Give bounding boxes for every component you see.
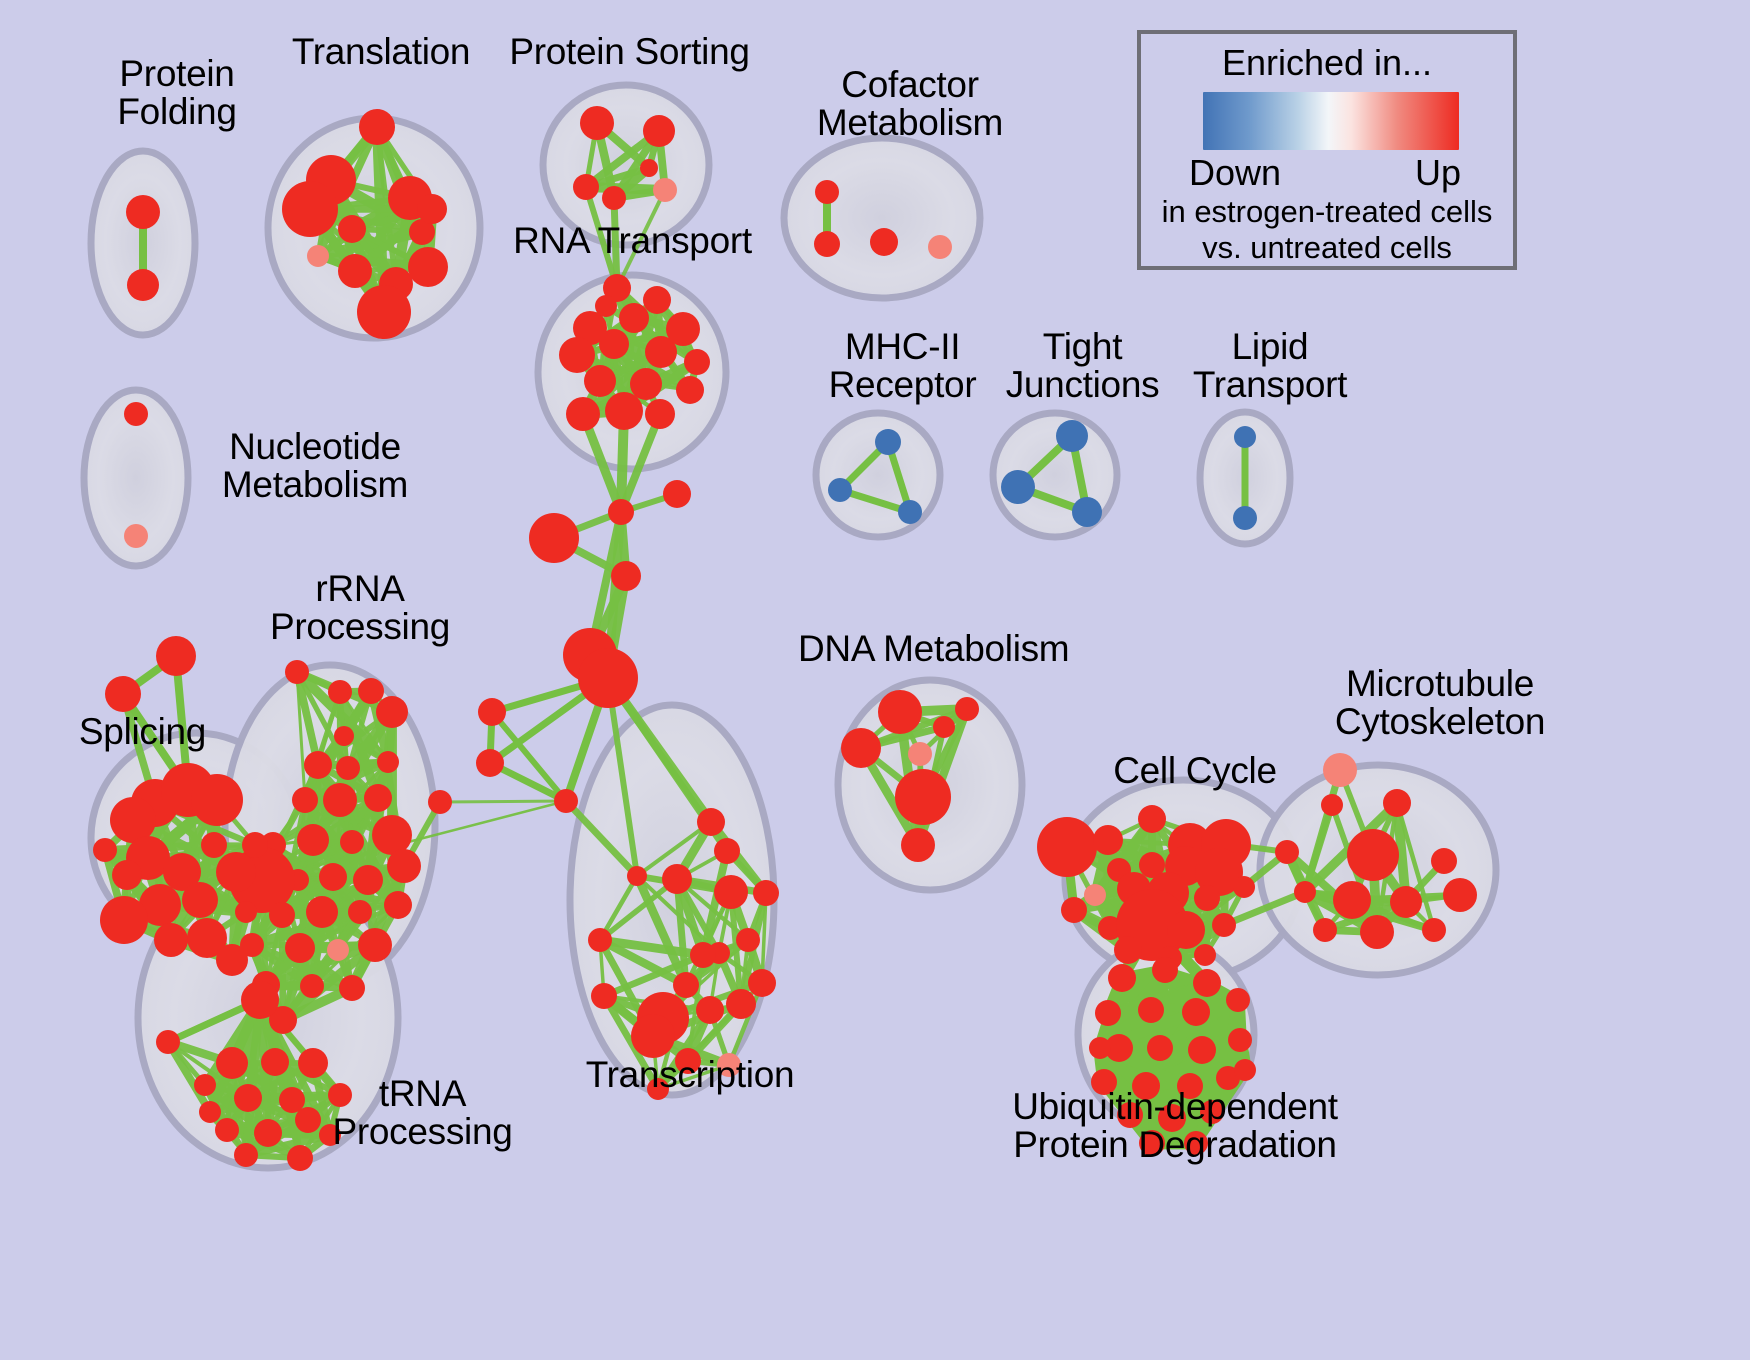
gene-set-node [1138,805,1166,833]
gene-set-node [1226,988,1250,1012]
cluster-label-dna-metabolism: DNA Metabolism [798,630,1068,668]
gene-set-node [591,983,617,1009]
gene-set-node [261,1048,289,1076]
enrichment-map-figure: Protein FoldingTranslationProtein Sortin… [0,0,1750,1360]
gene-set-node [319,863,347,891]
gene-set-node [1182,998,1210,1026]
gene-set-node [298,1048,328,1078]
gene-set-node [1313,918,1337,942]
gene-set-node [235,901,257,923]
gene-set-node [663,480,691,508]
cluster-label-cell-cycle: Cell Cycle [1095,752,1295,790]
legend-title: Enriched in... [1141,42,1513,84]
gene-set-node [1001,470,1035,504]
cluster-label-rrna-processing: rRNA Processing [245,570,475,647]
gene-set-node [1228,1028,1252,1052]
gene-set-node [285,933,315,963]
gene-set-node [323,783,357,817]
gene-set-node [124,524,148,548]
gene-set-node [1037,817,1097,877]
gene-set-node [1234,426,1256,448]
gene-set-node [815,180,839,204]
gene-set-node [1321,794,1343,816]
gene-set-node [726,989,756,1019]
cluster-label-transcription: Transcription [565,1056,815,1094]
gene-set-node [1275,840,1299,864]
gene-set-node [753,880,779,906]
gene-set-node [297,824,329,856]
gene-set-node [645,336,677,368]
gene-set-node [1114,936,1142,964]
gene-set-node [1333,881,1371,919]
gene-set-node [696,996,724,1024]
gene-set-node [126,195,160,229]
gene-set-node [566,397,600,431]
gene-set-node [254,1119,282,1147]
legend-up-label: Up [1415,152,1461,194]
gene-set-node [353,865,383,895]
gene-set-node [1147,1035,1173,1061]
gene-set-node [285,660,309,684]
gene-set-node [1194,885,1220,911]
gene-set-node [269,902,295,928]
gene-set-node [619,303,649,333]
gene-set-node [828,478,852,502]
gene-set-node [1347,829,1399,881]
gene-set-node [870,228,898,256]
cluster-label-mhc-ii-receptor: MHC-II Receptor [800,328,1005,405]
gene-set-node [1089,1037,1111,1059]
cluster-label-trna-processing: tRNA Processing [310,1075,535,1152]
gene-set-node [234,1084,262,1112]
gene-set-node [1193,969,1221,997]
gene-set-node [1138,997,1164,1023]
gene-set-node [242,832,268,858]
gene-set-node [387,849,421,883]
gene-set-node [100,896,148,944]
gene-set-node [1093,825,1123,855]
legend-color-bar [1203,92,1459,150]
gene-set-node [156,636,196,676]
gene-set-node [1188,1036,1216,1064]
gene-set-node [339,975,365,1001]
gene-set-node [112,860,142,890]
gene-set-node [662,864,692,894]
gene-set-node [1390,886,1422,918]
gene-set-node [384,891,412,919]
gene-set-node [1233,506,1257,530]
gene-set-node [234,1143,258,1167]
cluster-ellipse-mhc-ii-receptor [816,413,940,537]
gene-set-node [336,756,360,780]
gene-set-node [372,815,412,855]
gene-set-node [573,174,599,200]
gene-set-node [631,1014,675,1058]
gene-set-node [1422,918,1446,942]
legend-sublabel: in estrogen-treated cells vs. untreated … [1141,194,1513,266]
gene-set-node [127,269,159,301]
gene-set-node [241,981,279,1019]
gene-set-node [611,561,641,591]
gene-set-node [1212,913,1236,937]
gene-set-node [908,742,932,766]
gene-set-node [588,928,612,952]
gene-set-node [748,969,776,997]
cluster-label-microtubule-cytoskeleton: Microtubule Cytoskeleton [1300,665,1580,742]
gene-set-node [580,106,614,140]
cluster-label-protein-sorting: Protein Sorting [492,33,767,71]
gene-set-node [377,751,399,773]
gene-set-node [602,186,626,210]
gene-set-node [215,1118,239,1142]
gene-set-node [841,728,881,768]
gene-set-node [476,749,504,777]
gene-set-node [304,751,332,779]
gene-set-node [1383,789,1411,817]
gene-set-node [878,690,922,734]
gene-set-node [300,974,324,998]
gene-set-node [1061,897,1087,923]
cluster-label-nucleotide-metabolism: Nucleotide Metabolism [190,428,440,505]
gene-set-node [282,181,338,237]
gene-set-node [1443,878,1477,912]
gene-set-node [529,513,579,563]
gene-set-node [358,928,392,962]
gene-set-node [359,109,395,145]
gene-set-node [1108,964,1136,992]
gene-set-node [714,875,748,909]
gene-set-node [630,368,662,400]
gene-set-node [1234,1059,1256,1081]
gene-set-node [1095,1000,1121,1026]
gene-set-node [194,1074,216,1096]
gene-set-node [358,678,384,704]
gene-set-node [357,285,411,339]
gene-set-node [93,838,117,862]
gene-set-node [376,696,408,728]
gene-set-node [627,866,647,886]
gene-set-node [216,944,248,976]
gene-set-node [736,928,760,952]
gene-set-node [928,235,952,259]
gene-set-node [328,680,352,704]
gene-set-node [676,376,704,404]
cluster-label-ubiquitin-degradation: Ubiquitin-dependent Protein Degradation [980,1088,1370,1165]
gene-set-node [292,787,318,813]
gene-set-node [595,295,617,317]
gene-set-node [653,178,677,202]
gene-set-node [1152,957,1178,983]
gene-set-node [201,832,227,858]
gene-set-node [933,716,955,738]
gene-set-node [955,697,979,721]
gene-set-node [216,852,256,892]
gene-set-node [898,500,922,524]
gene-set-node [645,399,675,429]
gene-set-node [105,676,141,712]
gene-set-node [1056,420,1088,452]
gene-set-node [334,726,354,746]
gene-set-node [673,972,699,998]
edge [440,801,566,802]
gene-set-node [191,774,243,826]
gene-set-node [340,830,364,854]
gene-set-node [364,784,392,812]
cluster-label-splicing: Splicing [55,713,230,751]
gene-set-node [338,254,372,288]
legend-down-label: Down [1189,152,1281,194]
gene-set-node [199,1101,221,1123]
cluster-label-tight-junctions: Tight Junctions [985,328,1180,405]
gene-set-node [895,769,951,825]
cluster-label-lipid-transport: Lipid Transport [1170,328,1370,405]
gene-set-node [554,789,578,813]
gene-set-node [599,329,629,359]
gene-set-node [1323,753,1357,787]
cluster-label-rna-transport: RNA Transport [500,222,765,260]
gene-set-node [1084,884,1106,906]
cluster-label-translation: Translation [266,33,496,71]
cluster-label-cofactor-metabolism: Cofactor Metabolism [790,66,1030,143]
gene-set-node [643,115,675,147]
gene-set-node [327,939,349,961]
gene-set-node [1360,915,1394,949]
gene-set-node [814,231,840,257]
gene-set-node [1431,848,1457,874]
gene-set-node [690,942,716,968]
gene-set-node [697,808,725,836]
gene-set-node [875,429,901,455]
gene-set-node [901,828,935,862]
gene-set-node [605,392,643,430]
gene-set-node [1167,911,1205,949]
gene-set-node [478,698,506,726]
gene-set-node [714,838,740,864]
gene-set-node [216,1047,248,1079]
gene-set-node [643,286,671,314]
gene-set-node [156,1030,180,1054]
gene-set-node [578,648,638,708]
gene-set-node [559,337,595,373]
gene-set-node [584,365,616,397]
gene-set-node [1294,881,1316,903]
legend-box: Enriched in... Down Up in estrogen-treat… [1137,30,1517,270]
gene-set-node [1233,876,1255,898]
gene-set-node [307,245,329,267]
gene-set-node [417,194,447,224]
gene-set-node [182,882,218,918]
gene-set-node [428,790,452,814]
cluster-label-protein-folding: Protein Folding [82,55,272,132]
gene-set-node [1072,497,1102,527]
gene-set-node [338,215,366,243]
gene-set-node [640,159,658,177]
gene-set-node [306,896,338,928]
gene-set-node [154,923,188,957]
gene-set-node [1194,944,1216,966]
gene-set-node [408,247,448,287]
gene-set-node [608,499,634,525]
gene-set-node [124,402,148,426]
gene-set-node [684,349,710,375]
cluster-ellipse-cofactor-metabolism [784,138,980,298]
gene-set-node [348,900,372,924]
